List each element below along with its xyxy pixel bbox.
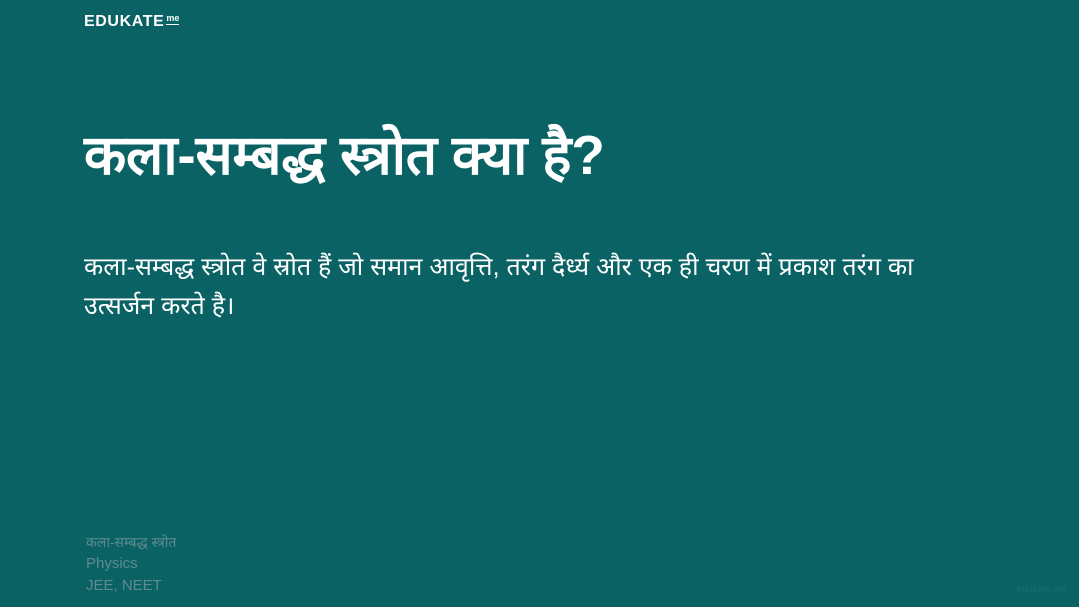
slide-footer: कला-सम्बद्ध स्त्रोत Physics JEE, NEET (86, 531, 176, 597)
corner-watermark: edukate.me (1017, 584, 1067, 595)
logo-superscript: me (166, 14, 179, 25)
footer-exams: JEE, NEET (86, 575, 176, 597)
slide-body-text: कला-सम्बद्ध स्त्रोत वे स्रोत हैं जो समान… (84, 248, 929, 326)
footer-topic: कला-सम्बद्ध स्त्रोत (86, 531, 176, 553)
slide-title: कला-सम्बद्ध स्त्रोत क्या है? (84, 124, 984, 187)
presentation-slide: EDUKATE me कला-सम्बद्ध स्त्रोत क्या है? … (0, 0, 1079, 607)
edukate-logo: EDUKATE me (84, 14, 179, 30)
logo-wordmark: EDUKATE (84, 14, 164, 30)
footer-subject: Physics (86, 553, 176, 575)
